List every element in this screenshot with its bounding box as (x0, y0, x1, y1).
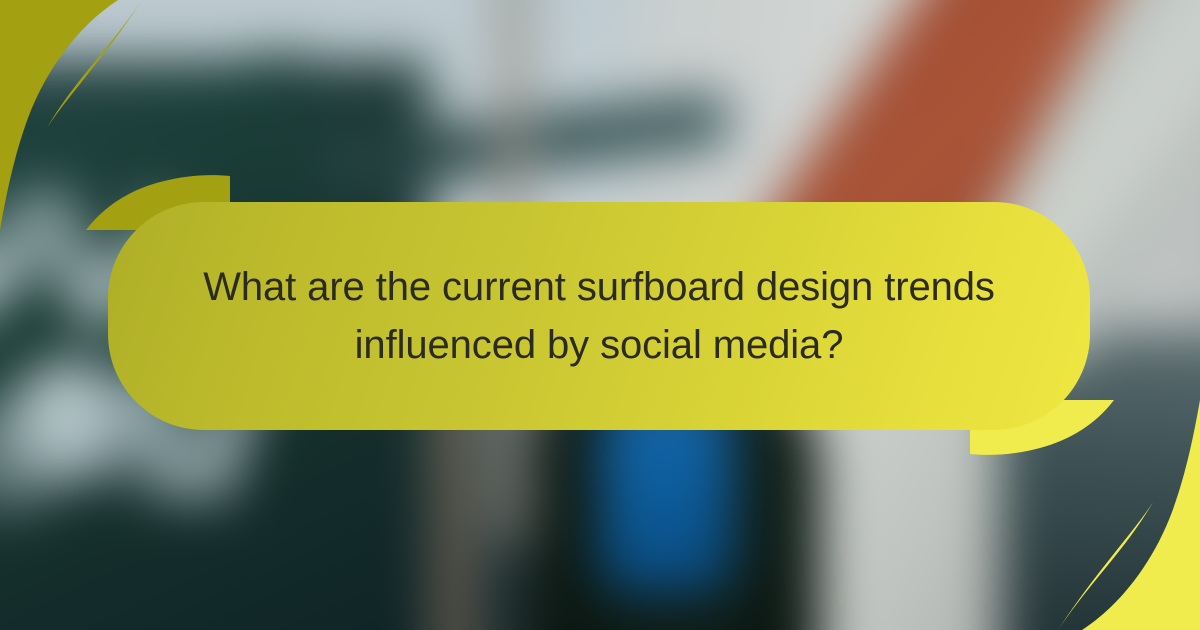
question-card-graphic: What are the current surfboard design tr… (0, 0, 1200, 630)
question-card: What are the current surfboard design tr… (108, 202, 1090, 430)
question-text: What are the current surfboard design tr… (184, 258, 1014, 374)
